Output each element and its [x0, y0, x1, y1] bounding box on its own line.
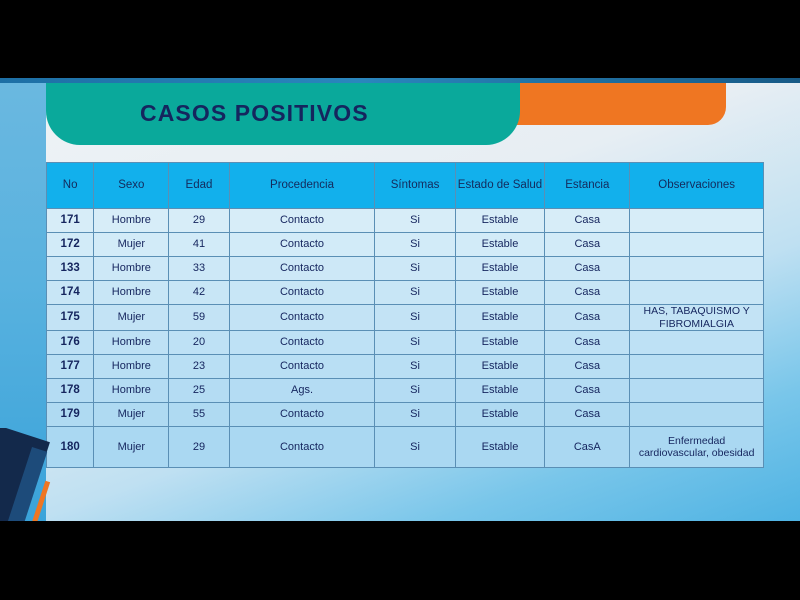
cell-edad: 55 — [169, 403, 229, 427]
observaciones-text: HAS, TABAQUISMO Y FIBROMIALGIA — [630, 305, 763, 330]
column-header-estado-salud: Estado de Salud — [455, 163, 545, 209]
table-row: 175Mujer59ContactoSiEstableCasaHAS, TABA… — [47, 305, 764, 331]
cell-procedencia: Contacto — [229, 281, 375, 305]
cell-sexo: Mujer — [94, 305, 169, 331]
presentation-slide: CASOS POSITIVOS No Sexo Edad Procedencia… — [0, 78, 800, 521]
page-title: CASOS POSITIVOS — [140, 100, 369, 127]
cell-observaciones — [630, 233, 764, 257]
cell-edad: 41 — [169, 233, 229, 257]
cell-estado: Estable — [455, 427, 545, 468]
table-row: 176Hombre20ContactoSiEstableCasa — [47, 331, 764, 355]
cell-sexo: Hombre — [94, 281, 169, 305]
cell-estado: Estable — [455, 281, 545, 305]
cell-estado: Estable — [455, 257, 545, 281]
cell-procedencia: Contacto — [229, 331, 375, 355]
cell-edad: 29 — [169, 209, 229, 233]
cell-estancia: Casa — [545, 355, 630, 379]
cell-edad: 20 — [169, 331, 229, 355]
table-header-row: No Sexo Edad Procedencia Síntomas Estado… — [47, 163, 764, 209]
cell-observaciones — [630, 355, 764, 379]
cell-edad: 25 — [169, 379, 229, 403]
cell-procedencia: Contacto — [229, 305, 375, 331]
cell-sexo: Hombre — [94, 257, 169, 281]
corner-decoration — [0, 428, 120, 521]
cell-estado: Estable — [455, 379, 545, 403]
cell-no: 133 — [47, 257, 94, 281]
cell-estancia: Casa — [545, 233, 630, 257]
cell-procedencia: Contacto — [229, 427, 375, 468]
cell-sexo: Hombre — [94, 331, 169, 355]
cell-no: 175 — [47, 305, 94, 331]
cell-sexo: Mujer — [94, 403, 169, 427]
cell-no: 177 — [47, 355, 94, 379]
cell-sintomas: Si — [375, 233, 455, 257]
cell-estado: Estable — [455, 305, 545, 331]
column-header-observaciones: Observaciones — [630, 163, 764, 209]
cell-procedencia: Contacto — [229, 355, 375, 379]
column-header-procedencia: Procedencia — [229, 163, 375, 209]
cell-sintomas: Si — [375, 355, 455, 379]
cell-observaciones: Enfermedad cardiovascular, obesidad — [630, 427, 764, 468]
cell-estancia: Casa — [545, 209, 630, 233]
cell-observaciones: HAS, TABAQUISMO Y FIBROMIALGIA — [630, 305, 764, 331]
cell-sintomas: Si — [375, 379, 455, 403]
cell-sexo: Mujer — [94, 233, 169, 257]
cell-procedencia: Contacto — [229, 257, 375, 281]
cell-estancia: Casa — [545, 331, 630, 355]
table-row: 174Hombre42ContactoSiEstableCasa — [47, 281, 764, 305]
column-header-sexo: Sexo — [94, 163, 169, 209]
cell-sintomas: Si — [375, 209, 455, 233]
column-header-no: No — [47, 163, 94, 209]
table-body: 171Hombre29ContactoSiEstableCasa172Mujer… — [47, 209, 764, 468]
cell-no: 178 — [47, 379, 94, 403]
positive-cases-table: No Sexo Edad Procedencia Síntomas Estado… — [46, 162, 764, 468]
cell-estancia: Casa — [545, 379, 630, 403]
letterbox-bottom — [0, 521, 800, 600]
table-row: 179Mujer55ContactoSiEstableCasa — [47, 403, 764, 427]
cell-sintomas: Si — [375, 305, 455, 331]
cell-edad: 33 — [169, 257, 229, 281]
cell-observaciones — [630, 379, 764, 403]
table-row: 178Hombre25Ags.SiEstableCasa — [47, 379, 764, 403]
cell-observaciones — [630, 331, 764, 355]
cell-edad: 23 — [169, 355, 229, 379]
cell-estancia: Casa — [545, 257, 630, 281]
cell-observaciones — [630, 281, 764, 305]
cell-edad: 29 — [169, 427, 229, 468]
cell-estado: Estable — [455, 355, 545, 379]
table-header: No Sexo Edad Procedencia Síntomas Estado… — [47, 163, 764, 209]
orange-accent-banner — [505, 83, 726, 125]
cell-estancia: Casa — [545, 403, 630, 427]
table-row: 180Mujer29ContactoSiEstableCasAEnfermeda… — [47, 427, 764, 468]
cell-procedencia: Contacto — [229, 403, 375, 427]
table-row: 172Mujer41ContactoSiEstableCasa — [47, 233, 764, 257]
cell-sintomas: Si — [375, 427, 455, 468]
cell-no: 179 — [47, 403, 94, 427]
cell-no: 172 — [47, 233, 94, 257]
cell-estancia: Casa — [545, 281, 630, 305]
cell-sexo: Hombre — [94, 379, 169, 403]
column-header-sintomas: Síntomas — [375, 163, 455, 209]
slide-screenshot: CASOS POSITIVOS No Sexo Edad Procedencia… — [0, 0, 800, 600]
cell-procedencia: Contacto — [229, 209, 375, 233]
cell-estado: Estable — [455, 233, 545, 257]
table-row: 177Hombre23ContactoSiEstableCasa — [47, 355, 764, 379]
column-header-edad: Edad — [169, 163, 229, 209]
cell-procedencia: Contacto — [229, 233, 375, 257]
cell-no: 171 — [47, 209, 94, 233]
cell-edad: 42 — [169, 281, 229, 305]
cell-estancia: Casa — [545, 305, 630, 331]
cell-no: 174 — [47, 281, 94, 305]
cell-sintomas: Si — [375, 331, 455, 355]
cell-estado: Estable — [455, 209, 545, 233]
cell-sexo: Hombre — [94, 209, 169, 233]
cell-sintomas: Si — [375, 403, 455, 427]
cell-estado: Estable — [455, 403, 545, 427]
observaciones-text: Enfermedad cardiovascular, obesidad — [630, 435, 763, 460]
letterbox-top — [0, 0, 800, 78]
column-header-estancia: Estancia — [545, 163, 630, 209]
cell-observaciones — [630, 209, 764, 233]
cell-estado: Estable — [455, 331, 545, 355]
cell-edad: 59 — [169, 305, 229, 331]
table-row: 133Hombre33ContactoSiEstableCasa — [47, 257, 764, 281]
cell-sintomas: Si — [375, 257, 455, 281]
cell-estancia: CasA — [545, 427, 630, 468]
cell-observaciones — [630, 403, 764, 427]
cell-observaciones — [630, 257, 764, 281]
cell-no: 176 — [47, 331, 94, 355]
cell-procedencia: Ags. — [229, 379, 375, 403]
cell-sintomas: Si — [375, 281, 455, 305]
cell-sexo: Hombre — [94, 355, 169, 379]
table-row: 171Hombre29ContactoSiEstableCasa — [47, 209, 764, 233]
